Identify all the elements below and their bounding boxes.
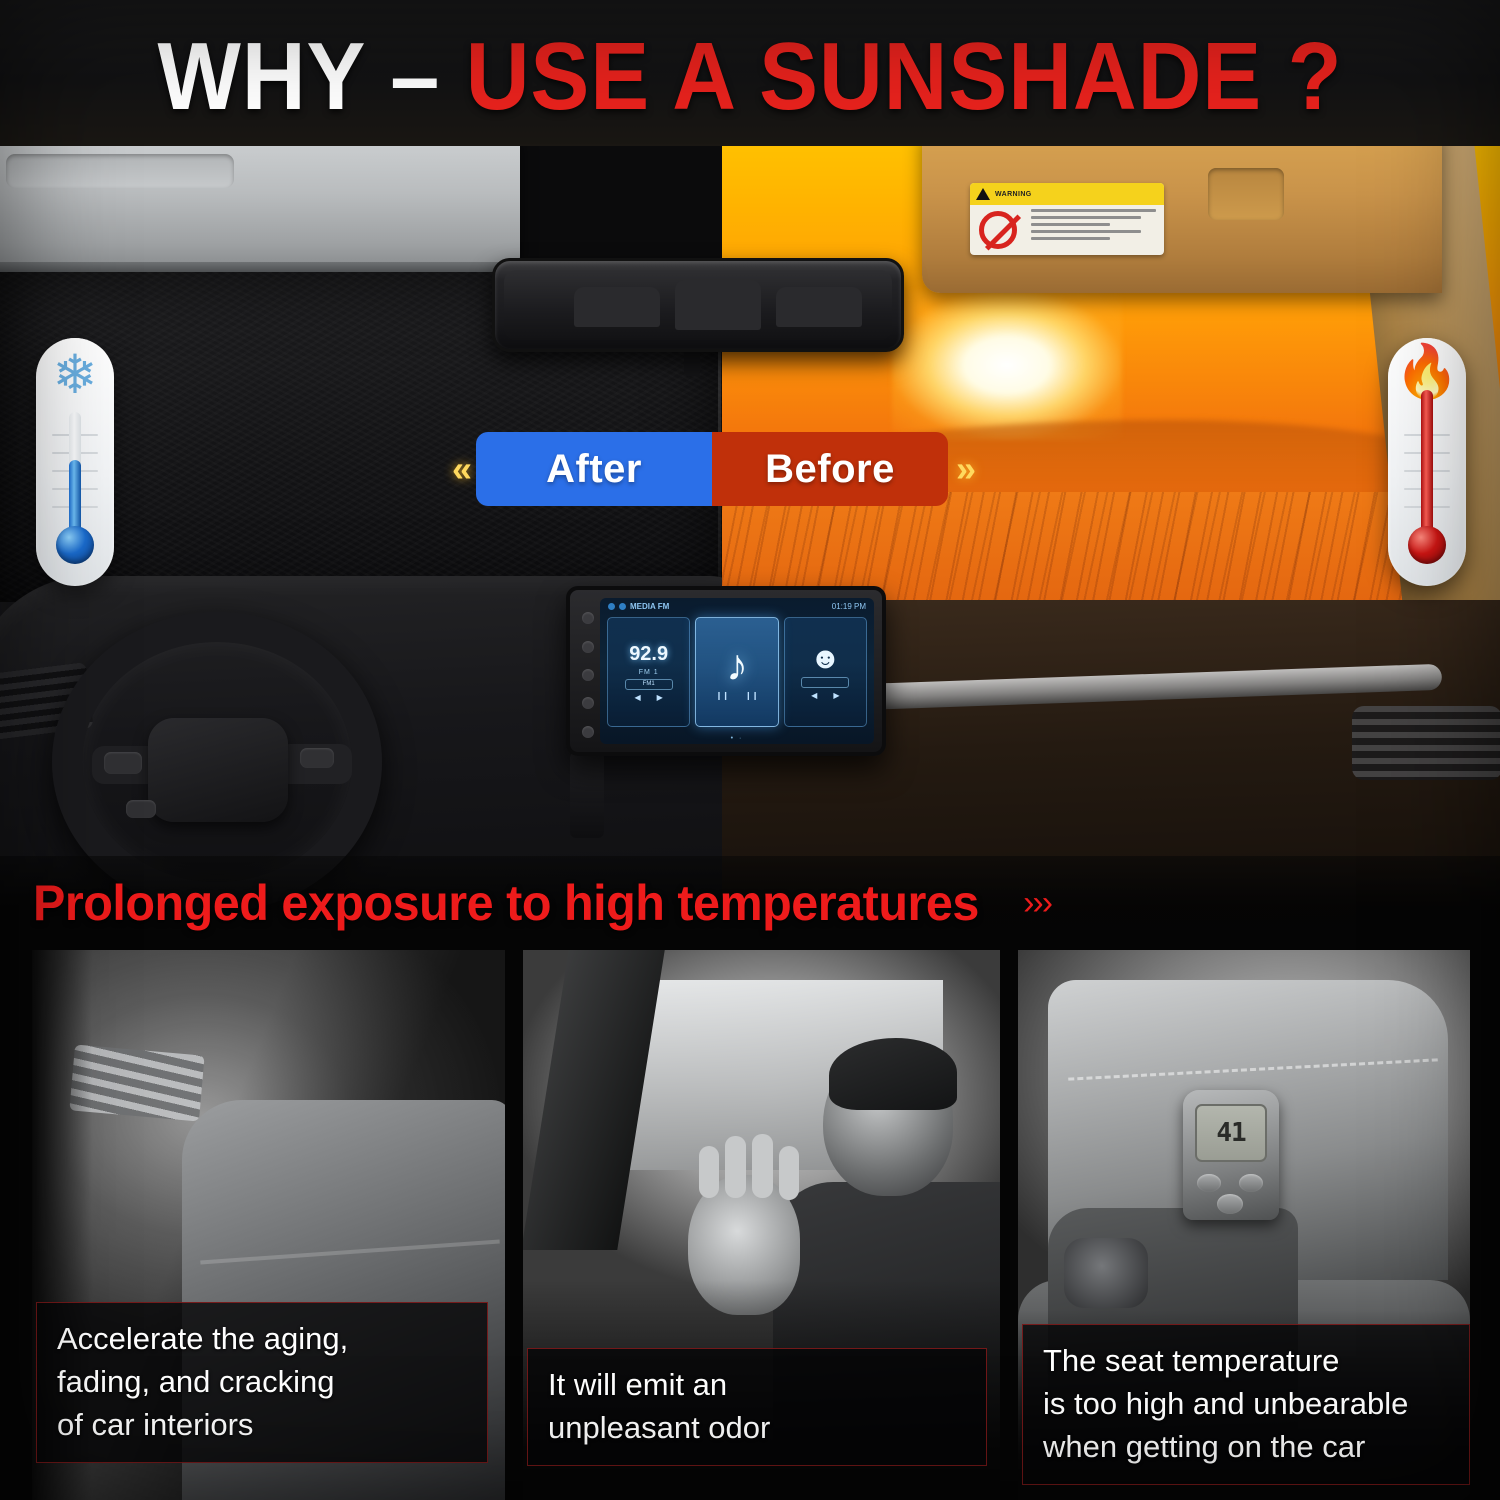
music-tile[interactable]: ♪ ❙❙ ❙❙	[695, 617, 778, 727]
visor-slot	[6, 154, 234, 188]
before-badge[interactable]: Before	[712, 432, 948, 506]
steering-wheel-hub	[148, 718, 288, 822]
thermometer-button-center[interactable]	[1217, 1194, 1243, 1214]
caption-interior-aging: Accelerate the aging, fading, and cracki…	[36, 1302, 488, 1463]
head-unit-brand: MEDIA FM	[608, 602, 669, 611]
wristwatch	[1064, 1238, 1148, 1308]
before-after-toggle[interactable]: « After Before »	[452, 432, 1012, 506]
mid-banner-text: Prolonged exposure to high temperatures	[0, 874, 979, 932]
hot-thermometer: 🔥	[1388, 338, 1466, 586]
head-unit-status-bar: MEDIA FM 01:19 PM	[600, 598, 874, 613]
warning-triangle-icon	[976, 188, 990, 200]
person-hair	[829, 1038, 957, 1110]
radio-next-icon[interactable]: ▶	[657, 693, 663, 702]
left-sun-visor	[0, 128, 520, 273]
thermometer-bulb-hot	[1408, 526, 1446, 564]
radio-frequency: 92.9	[629, 643, 668, 666]
visor-warning-label: WARNING	[970, 183, 1164, 255]
no-rear-facing-child-seat-icon	[970, 205, 1026, 255]
mid-banner: Prolonged exposure to high temperatures …	[0, 856, 1500, 950]
chevron-right-icon: »	[956, 448, 972, 490]
right-visor-slot	[1208, 168, 1284, 220]
thermometer-mercury-hot	[1421, 390, 1433, 538]
steering-button-left	[104, 752, 142, 774]
chevron-left-icon: «	[452, 448, 468, 490]
signal-icon	[619, 603, 626, 610]
music-note-icon: ♪	[726, 644, 748, 688]
media-source-label: MEDIA FM	[630, 602, 669, 611]
power-key-icon[interactable]	[582, 612, 594, 624]
head-unit-screen[interactable]: MEDIA FM 01:19 PM 92.9 FM 1 FM1 ◀ ▶	[600, 598, 874, 744]
profile-chip[interactable]	[801, 677, 849, 688]
thermometer-bulb-cold	[56, 526, 94, 564]
page-title: WHY – USE A SUNSHADE ?	[60, 26, 1440, 128]
music-play-icon[interactable]: ❙❙	[716, 691, 729, 700]
head-unit-clock: 01:19 PM	[832, 602, 866, 611]
product-infographic: WARNING	[0, 0, 1500, 1500]
head-unit-mount	[570, 752, 604, 838]
page-indicator[interactable]: • ·	[600, 735, 874, 742]
profile-next-icon[interactable]: ▶	[833, 691, 839, 700]
warning-label-body	[970, 205, 1164, 255]
radio-tile[interactable]: 92.9 FM 1 FM1 ◀ ▶	[607, 617, 690, 727]
infotainment-head-unit[interactable]: MEDIA FM 01:19 PM 92.9 FM 1 FM1 ◀ ▶	[566, 586, 886, 756]
steering-button-right	[300, 748, 334, 768]
menu-key-icon[interactable]	[582, 697, 594, 709]
person-icon: ☻	[810, 644, 842, 674]
warning-label-text-lines	[1026, 205, 1164, 255]
title-word-rest: USE A SUNSHADE ?	[466, 23, 1343, 130]
thermometer-button-right[interactable]	[1239, 1174, 1263, 1192]
head-unit-side-keys[interactable]	[578, 604, 598, 746]
title-dash: –	[390, 23, 440, 130]
rearview-mirror	[492, 258, 904, 352]
chevron-right-triple-icon: ›››	[1023, 884, 1051, 923]
thermometer-reading: 41	[1216, 1118, 1245, 1148]
hero-split-comparison: WARNING	[0, 0, 1500, 950]
bluetooth-icon	[608, 603, 615, 610]
radio-prev-icon[interactable]: ◀	[635, 693, 641, 702]
warning-label-title: WARNING	[995, 191, 1032, 198]
right-air-vent-icon	[1352, 706, 1500, 780]
sun-glare	[892, 290, 1122, 440]
back-key-icon[interactable]	[582, 726, 594, 738]
caption-unpleasant-odor: It will emit an unpleasant odor	[527, 1348, 987, 1466]
steering-button-lower	[126, 800, 156, 818]
head-unit-tiles: 92.9 FM 1 FM1 ◀ ▶ ♪ ❙❙ ❙❙	[600, 613, 874, 731]
thermometer-lcd-display: 41	[1195, 1104, 1267, 1162]
mirror-glass	[504, 270, 892, 340]
warning-label-header: WARNING	[970, 183, 1164, 205]
snowflake-icon: ❄	[52, 348, 97, 402]
infrared-thermometer: 41	[1183, 1090, 1279, 1220]
radio-preset-chip[interactable]: FM1	[625, 679, 673, 690]
cold-thermometer: ❄	[36, 338, 114, 586]
profile-tile[interactable]: ☻ ◀ ▶	[784, 617, 867, 727]
after-badge[interactable]: After	[476, 432, 712, 506]
caption-seat-temperature: The seat temperature is too high and unb…	[1022, 1324, 1470, 1485]
title-word-why: WHY	[158, 23, 365, 130]
home-key-icon[interactable]	[582, 641, 594, 653]
volume-key-icon[interactable]	[582, 669, 594, 681]
thermometer-button-left[interactable]	[1197, 1174, 1221, 1192]
radio-band: FM 1	[639, 669, 659, 676]
profile-prev-icon[interactable]: ◀	[811, 691, 817, 700]
music-pause-icon[interactable]: ❙❙	[745, 691, 758, 700]
